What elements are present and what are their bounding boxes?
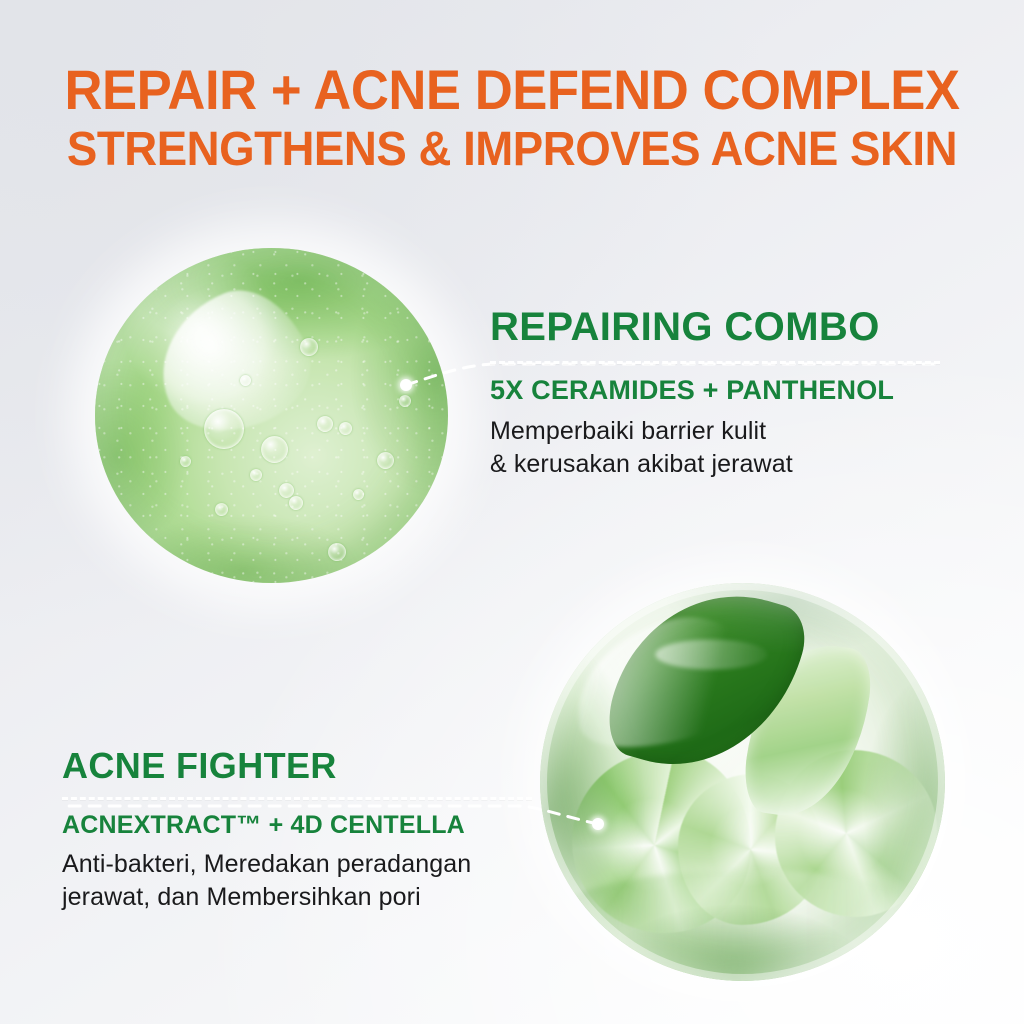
connector-dot-acne	[592, 818, 604, 830]
product-benefit-infographic: REPAIR + ACNE DEFEND COMPLEX STRENGTHENS…	[0, 0, 1024, 1024]
benefit-divider	[490, 361, 940, 364]
bubble	[261, 436, 288, 463]
benefit-title: REPAIRING COMBO	[490, 307, 940, 347]
bubble	[180, 456, 191, 467]
benefit-subtitle: 5X CERAMIDES + PANTHENOL	[490, 376, 940, 406]
bubble	[279, 483, 294, 498]
bubble	[204, 409, 244, 449]
benefit-description: Memperbaiki barrier kulit & kerusakan ak…	[490, 415, 940, 482]
orb-rim	[540, 583, 945, 981]
benefit-description-line-1: Anti-bakteri, Meredakan peradangan	[62, 848, 532, 882]
bubble	[399, 395, 411, 407]
benefit-block-acne-fighter: ACNE FIGHTER ACNEXTRACT™ + 4D CENTELLA A…	[62, 748, 532, 915]
bubble	[215, 503, 228, 516]
benefit-divider	[62, 797, 532, 800]
benefit-description-line-1: Memperbaiki barrier kulit	[490, 415, 940, 449]
bubble	[289, 496, 303, 510]
benefit-description: Anti-bakteri, Meredakan peradangan jeraw…	[62, 848, 532, 915]
benefit-block-repairing-combo: REPAIRING COMBO 5X CERAMIDES + PANTHENOL…	[490, 307, 940, 482]
bubble	[240, 375, 251, 386]
bubble	[339, 422, 352, 435]
headline-primary: REPAIR + ACNE DEFEND COMPLEX	[31, 62, 994, 118]
benefit-description-line-2: & kerusakan akibat jerawat	[490, 448, 940, 482]
headline-secondary: STRENGTHENS & IMPROVES ACNE SKIN	[26, 126, 999, 174]
benefit-description-line-2: jerawat, dan Membersihkan pori	[62, 881, 532, 915]
connector-dot-repairing	[400, 379, 412, 391]
bubble	[317, 416, 333, 432]
bubble	[328, 543, 346, 561]
centella-leaf-orb-image	[540, 583, 945, 981]
green-gel-droplet-image	[95, 248, 448, 583]
benefit-subtitle: ACNEXTRACT™ + 4D CENTELLA	[62, 812, 532, 840]
headline-block: REPAIR + ACNE DEFEND COMPLEX STRENGTHENS…	[0, 62, 1024, 174]
benefit-title: ACNE FIGHTER	[62, 748, 532, 784]
bubble	[353, 489, 364, 500]
